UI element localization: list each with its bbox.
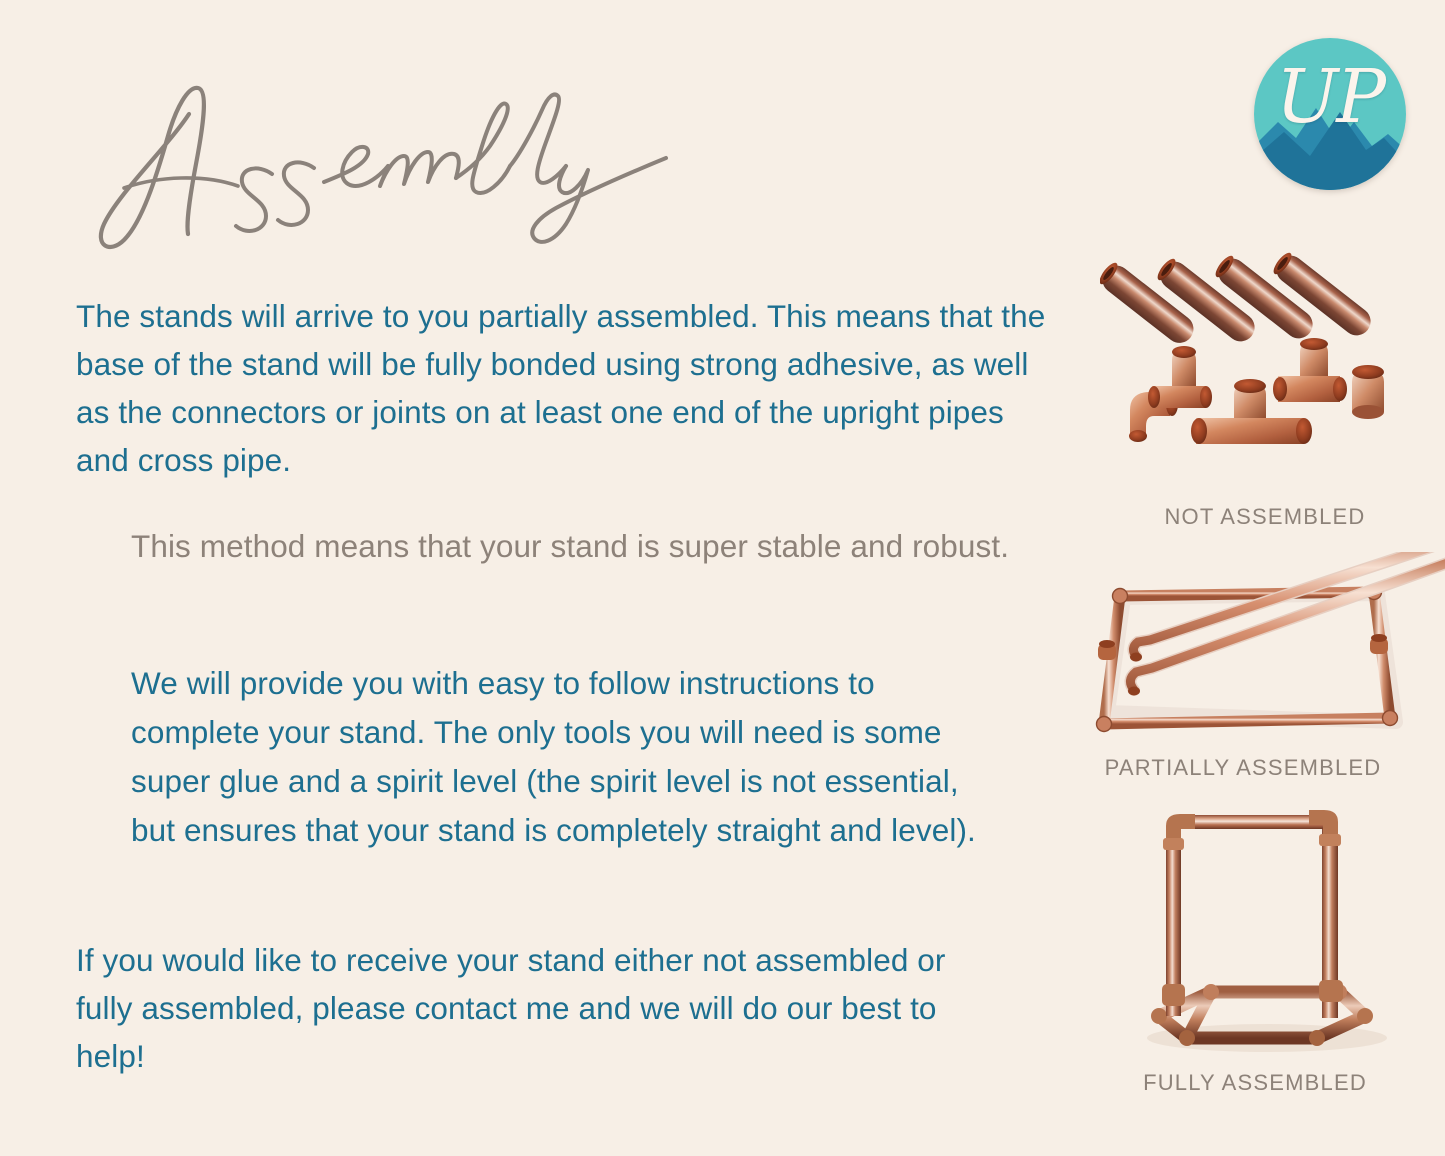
copper-stand-illustration — [1125, 800, 1395, 1052]
paragraph-method: This method means that your stand is sup… — [131, 521, 1061, 572]
loose-upright-pipes — [1128, 552, 1445, 696]
figure-not-assembled — [1100, 250, 1430, 500]
paragraph-intro: The stands will arrive to you partially … — [76, 292, 1051, 484]
paragraph-contact: If you would like to receive your stand … — [76, 936, 1006, 1080]
caption-fully-assembled: FULLY ASSEMBLED — [1090, 1070, 1420, 1096]
page-root: UP Assembly — [0, 0, 1445, 1156]
copper-base-frame-illustration — [1078, 552, 1445, 742]
logo-text: UP — [1254, 60, 1406, 134]
figure-partially-assembled — [1078, 552, 1445, 742]
base-tee-right — [1370, 634, 1388, 654]
brand-logo: UP — [1254, 38, 1406, 190]
copper-parts-illustration — [1100, 250, 1430, 500]
page-title: Assembly — [76, 74, 696, 254]
copper-joints-group — [1129, 338, 1384, 444]
base-tee-left — [1098, 640, 1116, 660]
caption-partially-assembled: PARTIALLY ASSEMBLED — [1078, 755, 1408, 781]
loose-pipes-group — [1100, 250, 1376, 349]
caption-not-assembled: NOT ASSEMBLED — [1100, 504, 1430, 530]
paragraph-instructions: We will provide you with easy to follow … — [131, 659, 1011, 855]
page-title-script: Assembly — [76, 74, 696, 254]
figure-fully-assembled — [1125, 800, 1395, 1052]
